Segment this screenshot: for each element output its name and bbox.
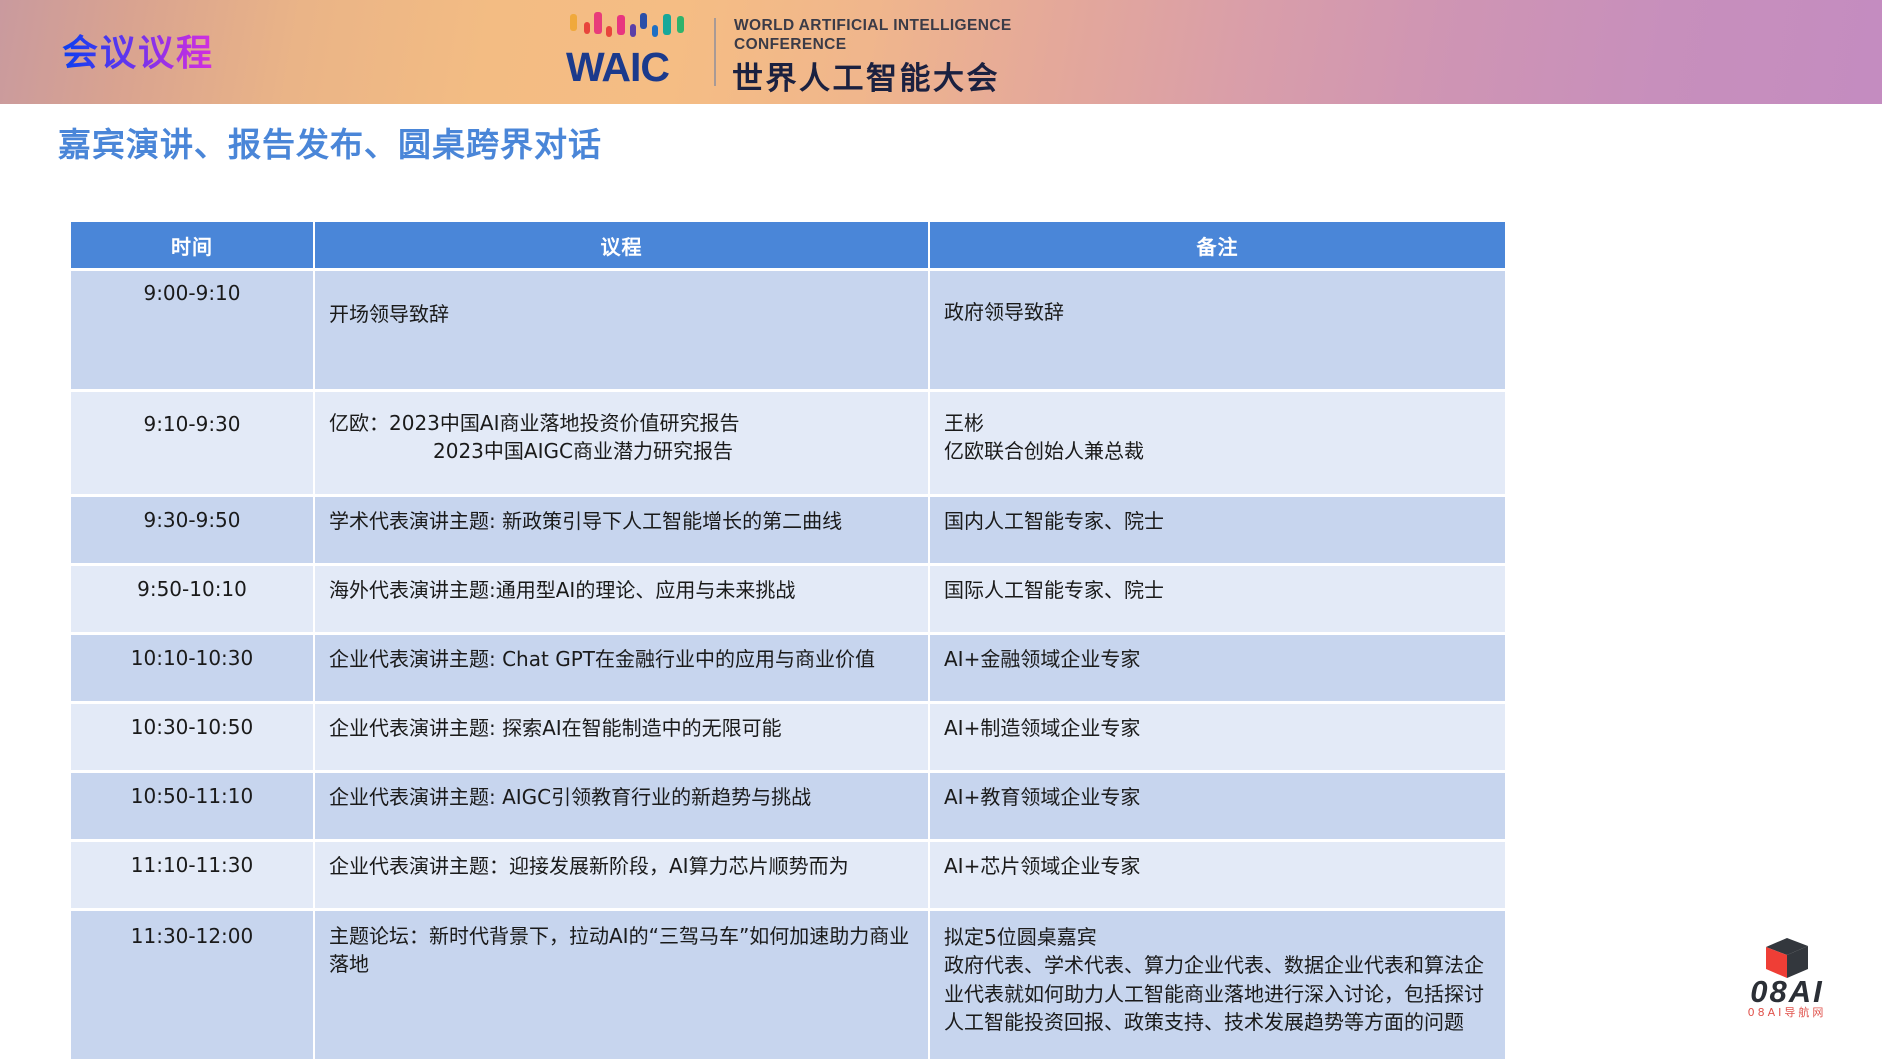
cell-agenda: 企业代表演讲主题: AIGC引领教育行业的新趋势与挑战 [315,773,930,842]
column-header-agenda: 议程 [315,222,930,271]
cell-note: AI+金融领域企业专家 [930,635,1505,704]
slide-subtitle: 嘉宾演讲、报告发布、圆桌跨界对话 [58,118,602,166]
page-title: 会议议程 [62,24,214,76]
table-row: 9:10-9:30亿欧：2023中国AI商业落地投资价值研究报告2023中国AI… [71,392,1505,497]
waic-divider [714,18,716,86]
cell-time: 9:00-9:10 [71,271,315,392]
note-line: AI+制造领域企业专家 [944,715,1505,743]
table-row: 10:10-10:30企业代表演讲主题: Chat GPT在金融行业中的应用与商… [71,635,1505,704]
cell-note: 拟定5位圆桌嘉宾政府代表、学术代表、算力企业代表、数据企业代表和算法企业代表就如… [930,911,1505,1062]
waic-logo: WAIC WORLD ARTIFICIAL INTELLIGENCE CONFE… [562,8,922,96]
cell-time: 10:50-11:10 [71,773,315,842]
agenda-line: 亿欧：2023中国AI商业落地投资价值研究报告 [329,410,928,438]
note-line: 政府代表、学术代表、算力企业代表、数据企业代表和算法企 [944,951,1664,979]
cell-time: 9:50-10:10 [71,566,315,635]
note-line: 业代表就如何助力人工智能商业落地进行深入讨论，包括探讨 [944,980,1664,1008]
note-line: 拟定5位圆桌嘉宾 [944,923,1664,951]
agenda-line: 主题论坛：新时代背景下，拉动AI的“三驾马车”如何加速助力商业落地 [329,923,928,978]
table-row: 11:30-12:00主题论坛：新时代背景下，拉动AI的“三驾马车”如何加速助力… [71,911,1505,1062]
waic-bar-3 [606,26,612,37]
cell-time: 10:10-10:30 [71,635,315,704]
table-row: 10:30-10:50企业代表演讲主题: 探索AI在智能制造中的无限可能AI+制… [71,704,1505,773]
table-row: 9:30-9:50学术代表演讲主题: 新政策引导下人工智能增长的第二曲线国内人工… [71,497,1505,566]
table-header-row: 时间 议程 备注 [71,222,1505,271]
cell-agenda: 企业代表演讲主题: Chat GPT在金融行业中的应用与商业价值 [315,635,930,704]
cell-note: 国内人工智能专家、院士 [930,497,1505,566]
waic-bar-0 [570,14,577,31]
cell-agenda: 企业代表演讲主题: 探索AI在智能制造中的无限可能 [315,704,930,773]
waic-bar-1 [584,22,590,34]
note-line: AI+金融领域企业专家 [944,646,1505,674]
waic-english-line2: CONFERENCE [734,36,847,54]
cell-note: AI+制造领域企业专家 [930,704,1505,773]
table-row: 9:00-9:10开场领导致辞政府领导致辞 [71,271,1505,392]
note-line: AI+芯片领域企业专家 [944,853,1505,881]
cell-agenda: 企业代表演讲主题：迎接发展新阶段，AI算力芯片顺势而为 [315,842,930,911]
waic-bar-7 [652,25,658,37]
note-overflow: 拟定5位圆桌嘉宾政府代表、学术代表、算力企业代表、数据企业代表和算法企业代表就如… [944,923,1664,1037]
cell-time: 9:30-9:50 [71,497,315,566]
cell-agenda: 亿欧：2023中国AI商业落地投资价值研究报告2023中国AIGC商业潜力研究报… [315,392,930,497]
waic-bar-9 [677,16,684,33]
agenda-line: 企业代表演讲主题: AIGC引领教育行业的新趋势与挑战 [329,784,928,812]
note-line: 亿欧联合创始人兼总裁 [944,438,1505,466]
waic-chinese-name: 世界人工智能大会 [732,53,1000,98]
waic-bar-6 [640,13,647,29]
waic-bar-5 [630,24,636,37]
note-line: 政府领导致辞 [944,299,1505,327]
cell-time: 9:10-9:30 [71,392,315,497]
note-line: 人工智能投资回报、政策支持、技术发展趋势等方面的问题 [944,1008,1664,1036]
agenda-line: 2023中国AIGC商业潜力研究报告 [329,438,928,466]
column-header-time: 时间 [71,222,315,271]
agenda-line: 学术代表演讲主题: 新政策引导下人工智能增长的第二曲线 [329,508,928,536]
cell-agenda: 主题论坛：新时代背景下，拉动AI的“三驾马车”如何加速助力商业落地 [315,911,930,1062]
cell-note: 政府领导致辞 [930,271,1505,392]
table-row: 10:50-11:10企业代表演讲主题: AIGC引领教育行业的新趋势与挑战AI… [71,773,1505,842]
agenda-line: 企业代表演讲主题: Chat GPT在金融行业中的应用与商业价值 [329,646,928,674]
cell-agenda: 学术代表演讲主题: 新政策引导下人工智能增长的第二曲线 [315,497,930,566]
cell-note: AI+芯片领域企业专家 [930,842,1505,911]
agenda-line: 企业代表演讲主题：迎接发展新阶段，AI算力芯片顺势而为 [329,853,928,881]
waic-bar-8 [663,14,671,35]
agenda-table: 时间 议程 备注 9:00-9:10开场领导致辞政府领导致辞9:10-9:30亿… [71,222,1505,1062]
cell-time: 11:10-11:30 [71,842,315,911]
cell-agenda: 海外代表演讲主题:通用型AI的理论、应用与未来挑战 [315,566,930,635]
column-header-note: 备注 [930,222,1505,271]
cell-note: 王彬亿欧联合创始人兼总裁 [930,392,1505,497]
table-row: 9:50-10:10海外代表演讲主题:通用型AI的理论、应用与未来挑战国际人工智… [71,566,1505,635]
waic-english-line1: WORLD ARTIFICIAL INTELLIGENCE [734,17,1012,35]
agenda-line: 企业代表演讲主题: 探索AI在智能制造中的无限可能 [329,715,928,743]
waic-wordmark: WAIC [566,44,669,91]
cell-agenda: 开场领导致辞 [315,271,930,392]
waic-bar-2 [594,12,602,34]
watermark-logo: 08AI 08AI导航网 [1692,930,1882,1026]
table-row: 11:10-11:30企业代表演讲主题：迎接发展新阶段，AI算力芯片顺势而为AI… [71,842,1505,911]
note-line: 国际人工智能专家、院士 [944,577,1505,605]
cell-time: 10:30-10:50 [71,704,315,773]
waic-bars-icon [570,12,700,48]
agenda-line: 海外代表演讲主题:通用型AI的理论、应用与未来挑战 [329,577,928,605]
cell-note: 国际人工智能专家、院士 [930,566,1505,635]
cell-note: AI+教育领域企业专家 [930,773,1505,842]
watermark-subtitle: 08AI导航网 [1692,1004,1882,1020]
agenda-line: 开场领导致辞 [329,301,928,329]
top-banner: 会议议程 WAIC WORLD ARTIFICIAL INTELLIGENCE … [0,0,1882,104]
waic-bar-4 [617,15,625,35]
note-line: AI+教育领域企业专家 [944,784,1505,812]
cell-time: 11:30-12:00 [71,911,315,1062]
note-line: 国内人工智能专家、院士 [944,508,1505,536]
note-line: 王彬 [944,410,1505,438]
